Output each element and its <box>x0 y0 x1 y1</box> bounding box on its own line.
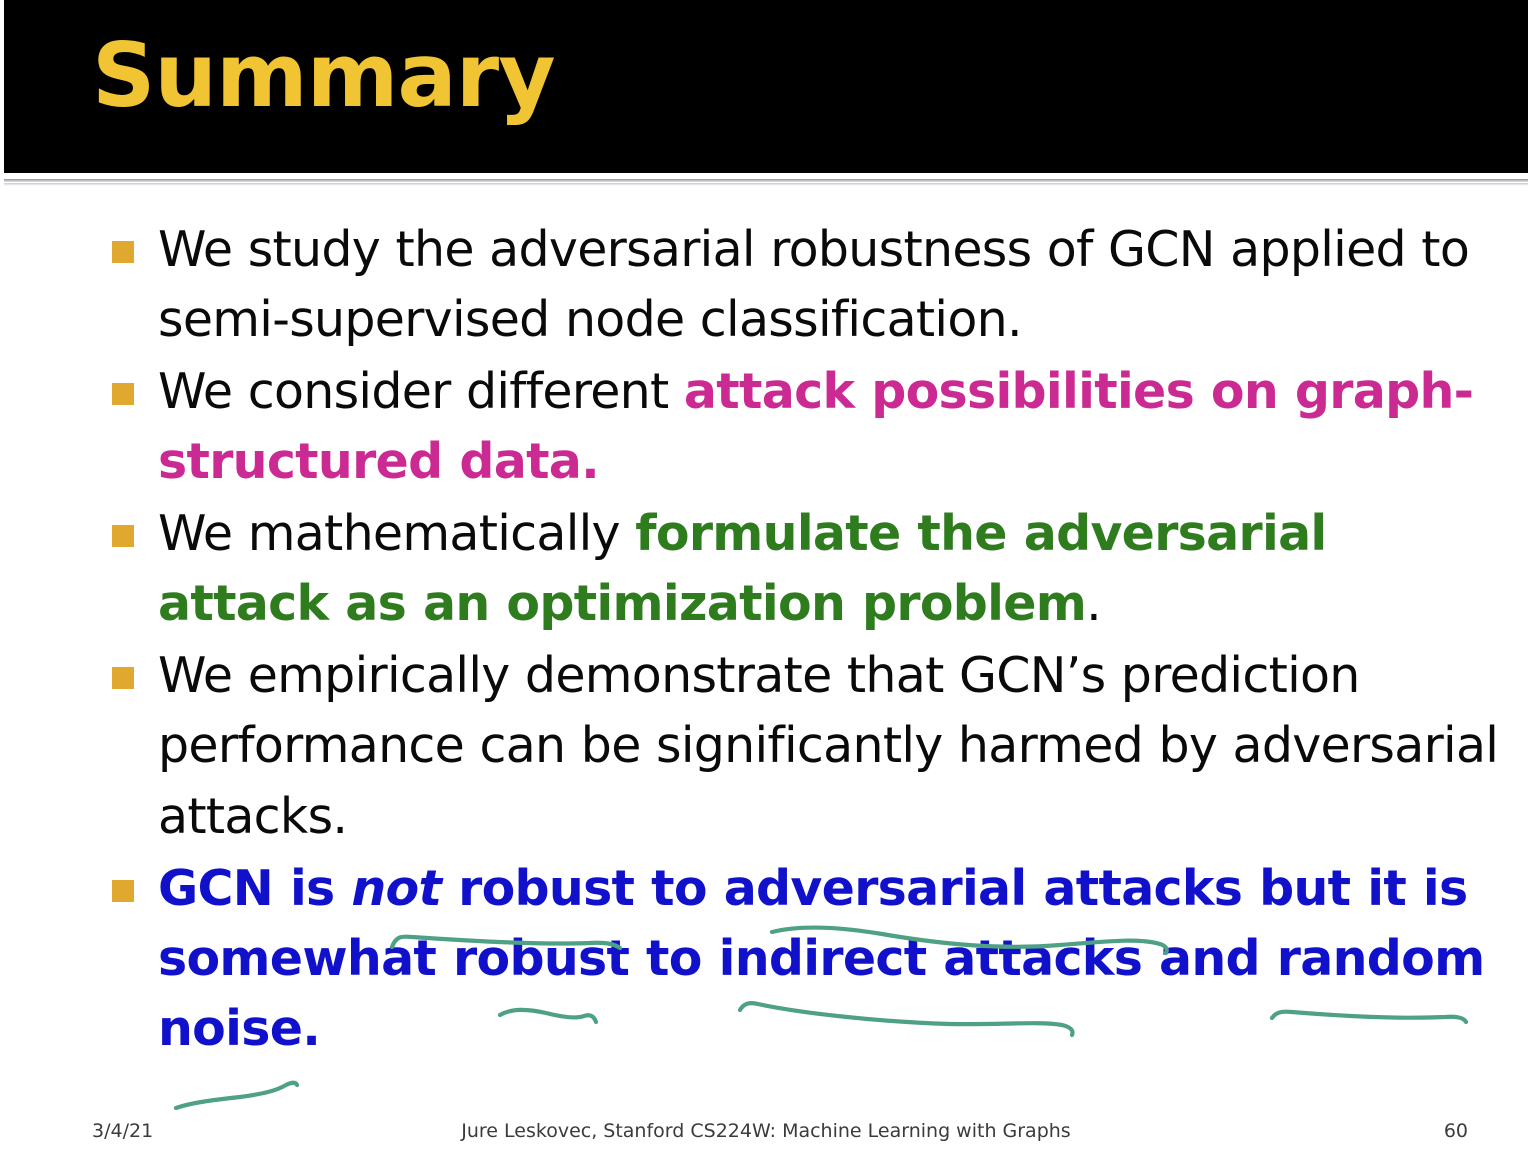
slide-body: We study the adversarial robustness of G… <box>0 215 1532 1066</box>
bullet-text-3: We mathematically formulate the adversar… <box>158 499 1512 639</box>
bullet-2-segment-0: We consider different <box>158 363 684 420</box>
bullet-square-icon <box>112 525 134 547</box>
footer-page-number: 60 <box>1444 1120 1468 1142</box>
banner-divider-lower <box>4 183 1528 186</box>
bullet-text-5: GCN is not robust to adversarial attacks… <box>158 854 1512 1064</box>
bullet-item-4: We empirically demonstrate that GCN’s pr… <box>0 641 1532 851</box>
bullet-5-segment-not: not <box>351 860 441 917</box>
underline-noise <box>176 1083 297 1108</box>
bullet-square-icon <box>112 241 134 263</box>
bullet-3-segment-2: . <box>1086 575 1101 632</box>
bullet-text-2: We consider different attack possibiliti… <box>158 357 1512 497</box>
bullet-5-segment-0: GCN is <box>158 860 351 917</box>
bullet-1-segment-0: We study the adversarial robustness of G… <box>158 221 1469 348</box>
bullet-text-4: We empirically demonstrate that GCN’s pr… <box>158 641 1512 851</box>
bullet-text-1: We study the adversarial robustness of G… <box>158 215 1512 355</box>
slide-footer: 3/4/21 Jure Leskovec, Stanford CS224W: M… <box>0 1120 1532 1150</box>
bullet-item-2: We consider different attack possibiliti… <box>0 357 1532 497</box>
bullet-item-3: We mathematically formulate the adversar… <box>0 499 1532 639</box>
bullet-4-segment-0: We empirically demonstrate that GCN’s pr… <box>158 647 1498 844</box>
bullet-square-icon <box>112 880 134 902</box>
title-banner: Summary <box>4 0 1528 173</box>
bullet-square-icon <box>112 383 134 405</box>
page-title: Summary <box>92 32 555 120</box>
footer-attribution: Jure Leskovec, Stanford CS224W: Machine … <box>0 1120 1532 1142</box>
bullet-square-icon <box>112 667 134 689</box>
bullet-item-1: We study the adversarial robustness of G… <box>0 215 1532 355</box>
banner-divider-upper <box>4 179 1528 182</box>
bullet-3-segment-0: We mathematically <box>158 505 635 562</box>
bullet-item-5: GCN is not robust to adversarial attacks… <box>0 854 1532 1064</box>
